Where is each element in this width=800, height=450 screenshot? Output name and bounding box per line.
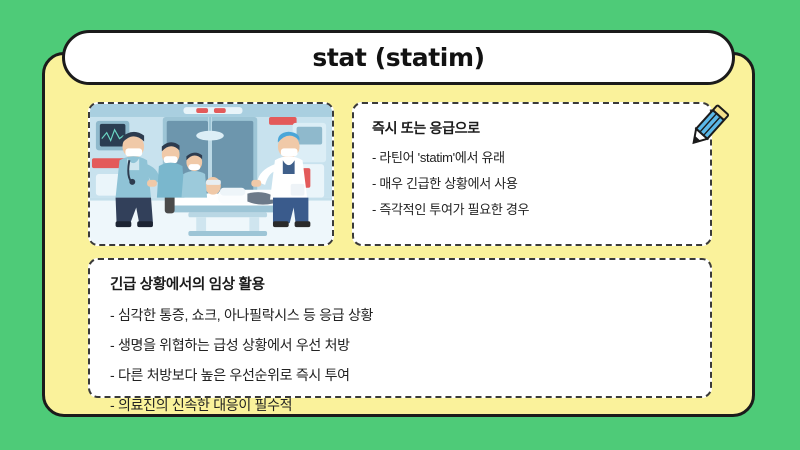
definition-panel: 즉시 또는 응급으로 - 라틴어 'statim'에서 유래 - 매우 긴급한 … [352,102,712,246]
list-item: - 즉각적인 투여가 필요한 경우 [372,199,692,218]
page-title: stat (statim) [312,43,484,72]
clinical-heading: 긴급 상황에서의 임상 활용 [110,273,690,294]
list-item: - 다른 처방보다 높은 우선순위로 즉시 투여 [110,365,690,385]
definition-bullet-list: - 라틴어 'statim'에서 유래 - 매우 긴급한 상황에서 사용 - 즉… [372,147,692,218]
list-item: - 라틴어 'statim'에서 유래 [372,147,692,166]
title-banner: stat (statim) [62,30,735,85]
emergency-room-illustration [90,104,332,244]
pencil-icon [682,100,734,152]
illustration-panel [88,102,334,246]
slide-canvas: stat (statim) [0,0,800,450]
clinical-usage-panel: 긴급 상황에서의 임상 활용 - 심각한 통증, 쇼크, 아나필락시스 등 응급… [88,258,712,398]
list-item: - 의료진의 신속한 대응이 필수적 [110,395,690,415]
definition-heading: 즉시 또는 응급으로 [372,118,692,138]
clinical-bullet-list: - 심각한 통증, 쇼크, 아나필락시스 등 응급 상황 - 생명을 위협하는 … [110,305,690,415]
list-item: - 심각한 통증, 쇼크, 아나필락시스 등 응급 상황 [110,305,690,325]
list-item: - 매우 긴급한 상황에서 사용 [372,173,692,192]
list-item: - 생명을 위협하는 급성 상황에서 우선 처방 [110,335,690,355]
